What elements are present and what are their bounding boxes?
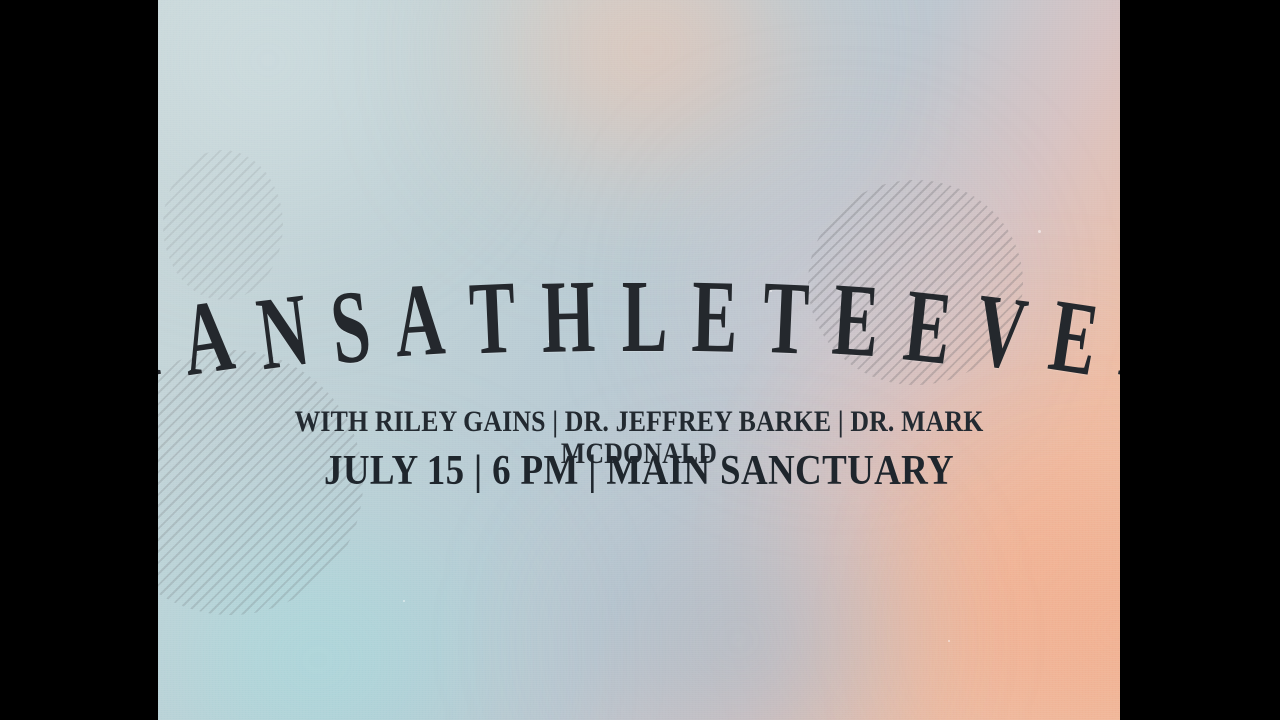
page-title: TRANSATHLETEEVENT bbox=[158, 268, 1120, 398]
headline-letter: N bbox=[252, 281, 314, 385]
headline-letter: T bbox=[761, 269, 811, 370]
video-frame: TRANSATHLETEEVENT WITH RILEY GAINS | DR.… bbox=[0, 0, 1280, 720]
headline-letter: L bbox=[622, 268, 668, 367]
headline-letter: A bbox=[175, 286, 239, 391]
date-time-location-line: JULY 15 | 6 PM | MAIN SANCTUARY bbox=[216, 448, 1063, 494]
headline-letter: E bbox=[899, 277, 955, 380]
headline-letter: H bbox=[541, 268, 596, 368]
letterbox-bar-left bbox=[0, 0, 158, 720]
headline-letter: V bbox=[970, 281, 1032, 385]
poster-text-content: TRANSATHLETEEVENT WITH RILEY GAINS | DR.… bbox=[158, 0, 1120, 720]
headline-letter: T bbox=[467, 269, 517, 370]
event-poster: TRANSATHLETEEVENT WITH RILEY GAINS | DR.… bbox=[158, 0, 1120, 720]
headline-letter: E bbox=[691, 268, 739, 368]
headline-letter: R bbox=[158, 292, 163, 398]
headline-letter: E bbox=[830, 271, 882, 373]
headline-letter: S bbox=[326, 277, 374, 379]
headline-letter: A bbox=[391, 270, 447, 372]
headline-letter: E bbox=[1044, 286, 1104, 391]
letterbox-bar-right bbox=[1120, 0, 1280, 720]
